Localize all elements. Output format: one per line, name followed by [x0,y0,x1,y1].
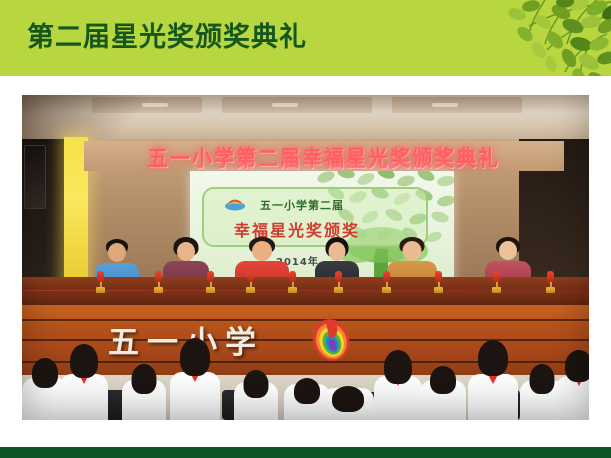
audience-children [22,331,589,420]
screen-line1: 五一小学第二届 [260,197,344,213]
trophy [206,271,215,293]
trophy [334,271,343,293]
audience-child [234,358,278,420]
ceiling-light [432,103,458,107]
trophy [154,271,163,293]
audience-child [374,346,422,420]
trophy [546,271,555,293]
audience-child [468,340,518,420]
school-emblem-icon [224,197,246,211]
audience-child [122,354,166,420]
trophy [288,271,297,293]
person-head [252,241,272,261]
page-title: 第二届星光奖颁奖典礼 [27,24,307,51]
ceremony-photo: 五一小学第二届幸福星光奖颁奖典礼 [22,95,589,420]
person-head [177,242,195,261]
ceiling-light [272,103,298,107]
hall-banner-text: 五一小学第二届幸福星光奖颁奖典礼 [148,141,500,171]
trophy-row [22,271,589,293]
person-head [108,243,126,262]
audience-child [170,338,220,420]
trophy [492,271,501,293]
person-head [329,242,346,261]
footer-bar [0,447,611,458]
leaves-decoration-icon [421,0,611,76]
trophy [382,271,391,293]
page-header: 第二届星光奖颁奖典礼 [0,0,611,76]
speaker-box [24,145,46,209]
person-head [499,241,517,260]
ceiling-shadow [22,95,172,141]
audience-child [556,346,589,420]
audience-child [420,356,466,420]
trophy [96,271,105,293]
person-head [403,241,422,261]
audience-child [60,342,108,420]
audience-child [322,368,374,420]
hall-banner: 五一小学第二届幸福星光奖颁奖典礼 [84,141,564,171]
trophy [434,271,443,293]
trophy [246,271,255,293]
